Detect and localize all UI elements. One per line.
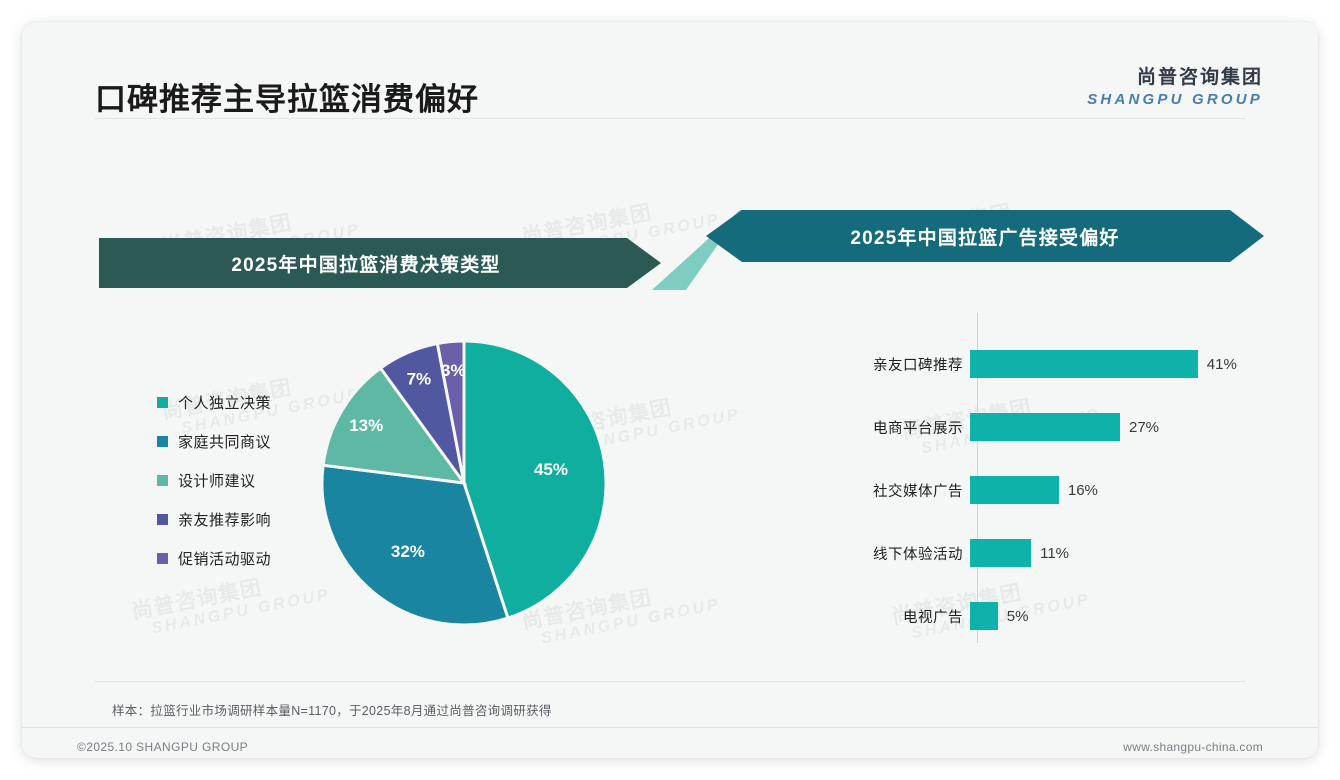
pie-chart-panel: 个人独立决策 家庭共同商议 设计师建议 亲友推荐影响 促销活动驱动 45%32%… [99,322,699,662]
bar-chart-panel: 亲友口碑推荐41%电商平台展示27%社交媒体广告16%线下体验活动11%电视广告… [822,307,1262,652]
page-title: 口碑推荐主导拉篮消费偏好 [95,74,479,119]
legend-label: 设计师建议 [178,470,256,491]
bar-fill[interactable] [970,539,1031,567]
pie-slice-label: 32% [391,542,425,561]
bar-chart-row[interactable]: 线下体验活动11% [822,538,1262,568]
legend-label: 个人独立决策 [178,392,271,413]
bar-value-label: 41% [1207,356,1237,373]
legend-item[interactable]: 个人独立决策 [157,392,271,413]
legend-item[interactable]: 亲友推荐影响 [157,509,271,530]
pie-slice-label: 7% [407,370,432,389]
legend-item[interactable]: 促销活动驱动 [157,548,271,569]
bar-fill[interactable] [970,350,1198,378]
legend-item[interactable]: 设计师建议 [157,470,271,491]
legend-swatch-icon [157,475,168,486]
legend-swatch-icon [157,514,168,525]
pie-slice-label: 3% [441,361,466,380]
pie-chart-graphic[interactable]: 45%32%13%7%3% [319,338,609,628]
logo-chinese-text: 尚普咨询集团 [1087,62,1263,89]
bar-category-label: 电视广告 [822,606,970,627]
bar-value-label: 5% [1007,608,1029,625]
brand-logo: 尚普咨询集团 SHANGPU GROUP [1087,62,1263,108]
legend-swatch-icon [157,553,168,564]
bar-fill[interactable] [970,476,1059,504]
logo-english-text: SHANGPU GROUP [1087,91,1263,108]
pie-slice-label: 45% [534,460,568,479]
bar-chart-row[interactable]: 电商平台展示27% [822,412,1262,442]
bar-category-label: 线下体验活动 [822,543,970,564]
bar-chart-row[interactable]: 社交媒体广告16% [822,475,1262,505]
slide-canvas: 尚普咨询集团 SHANGPU GROUP 尚普咨询集团 SHANGPU GROU… [22,22,1318,758]
legend-label: 促销活动驱动 [178,548,271,569]
banner-left-label: 2025年中国拉篮消费决策类型 [231,250,500,277]
bar-fill[interactable] [970,413,1120,441]
bar-category-label: 亲友口碑推荐 [822,354,970,375]
footer-website[interactable]: www.shangpu-china.com [1123,740,1263,754]
bar-chart-row[interactable]: 亲友口碑推荐41% [822,349,1262,379]
bar-value-label: 16% [1068,482,1098,499]
bar-value-label: 11% [1040,545,1069,562]
bar-category-label: 社交媒体广告 [822,480,970,501]
footer-divider [22,727,1318,728]
chart-banner-left: 2025年中国拉篮消费决策类型 [99,238,661,288]
banner-right-label: 2025年中国拉篮广告接受偏好 [850,223,1119,250]
legend-swatch-icon [157,397,168,408]
bar-value-label: 27% [1129,419,1159,436]
footnote-divider [95,681,1245,682]
bar-chart-row[interactable]: 电视广告5% [822,601,1262,631]
chart-banner-right: 2025年中国拉篮广告接受偏好 [706,210,1264,262]
legend-label: 亲友推荐影响 [178,509,271,530]
pie-legend: 个人独立决策 家庭共同商议 设计师建议 亲友推荐影响 促销活动驱动 [157,392,271,587]
header-divider [95,118,1245,119]
slide-header: 口碑推荐主导拉篮消费偏好 尚普咨询集团 SHANGPU GROUP [22,22,1318,120]
bar-category-label: 电商平台展示 [822,417,970,438]
source-footnote: 样本：拉篮行业市场调研样本量N=1170，于2025年8月通过尚普咨询调研获得 [112,700,552,719]
legend-label: 家庭共同商议 [178,431,271,452]
footer-copyright: ©2025.10 SHANGPU GROUP [77,740,248,754]
legend-swatch-icon [157,436,168,447]
pie-slice-label: 13% [349,416,383,435]
legend-item[interactable]: 家庭共同商议 [157,431,271,452]
bar-fill[interactable] [970,602,998,630]
